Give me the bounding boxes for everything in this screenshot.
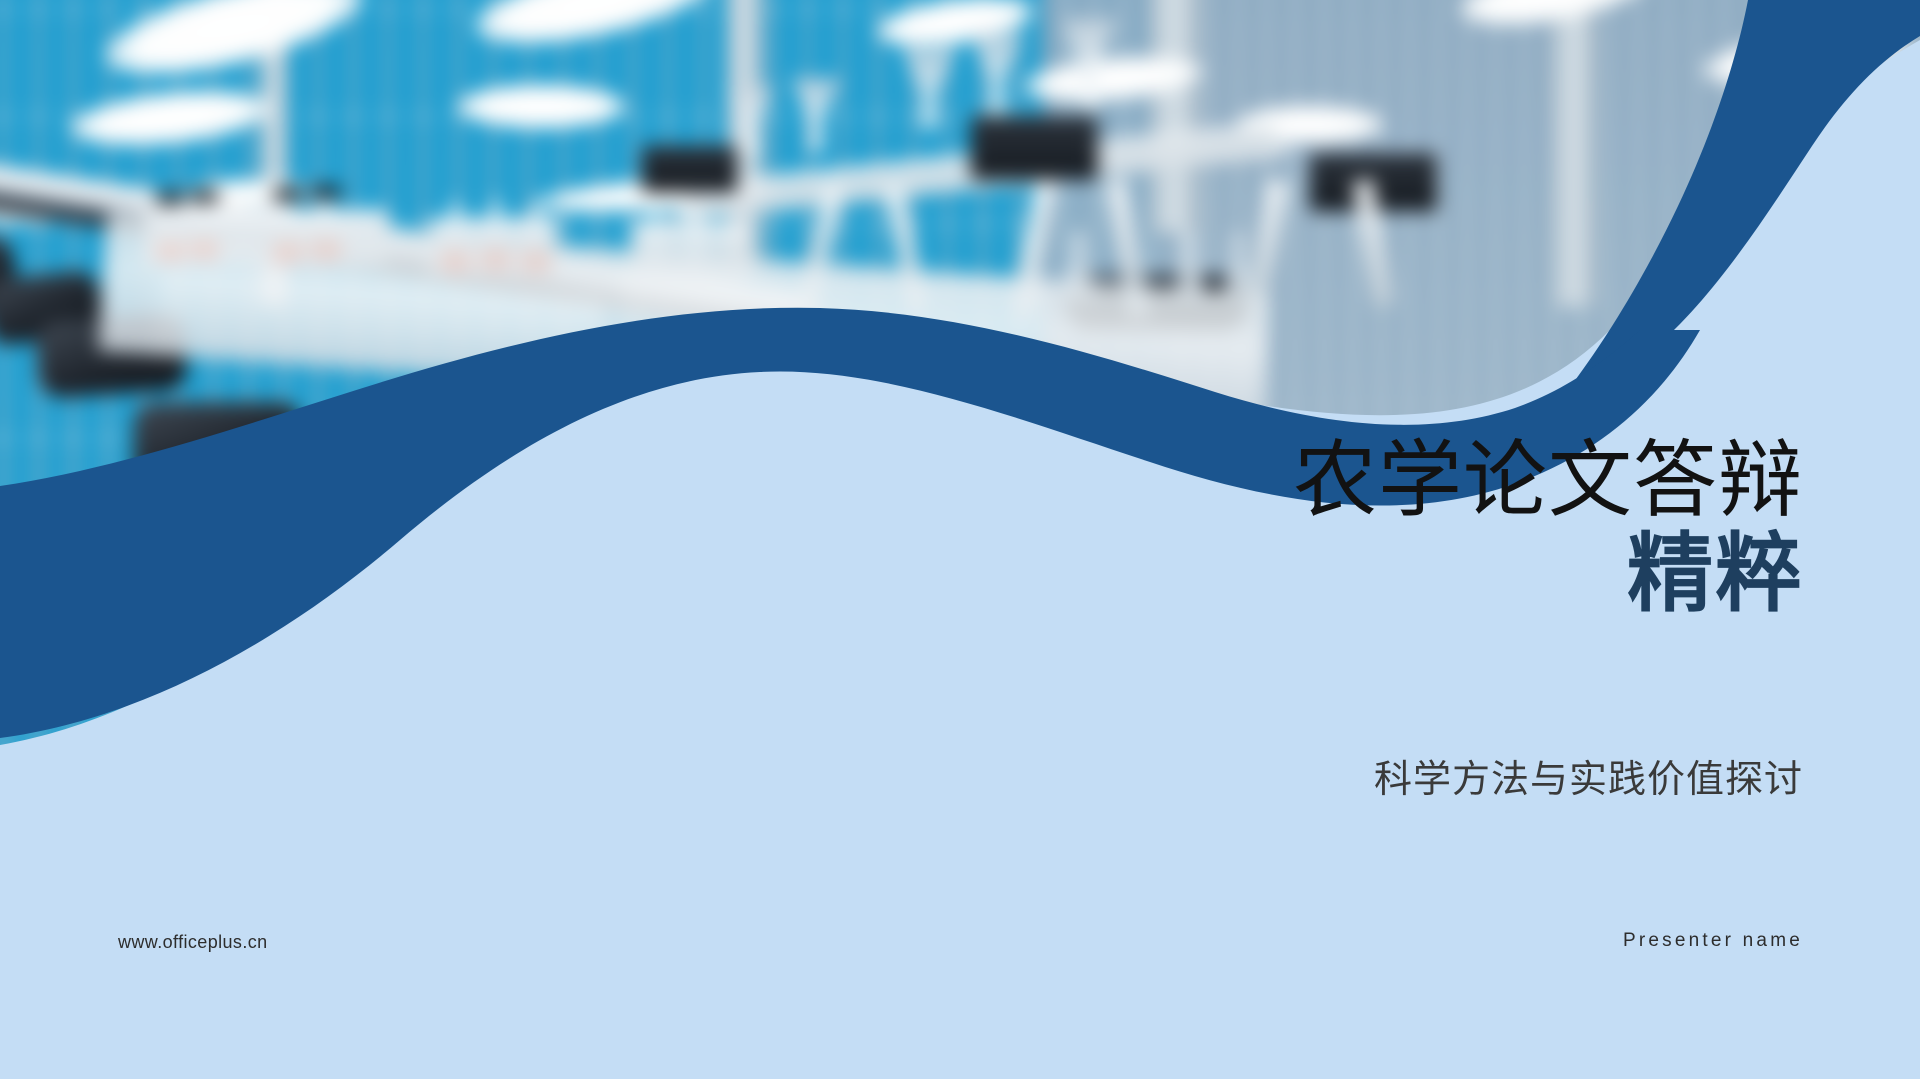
- footer-presenter-name: Presenter name: [1623, 930, 1803, 952]
- footer-url[interactable]: www.officeplus.cn: [118, 932, 268, 953]
- title-line-1: 农学论文答辩: [983, 438, 1803, 524]
- slide-title: 农学论文答辩 精粹: [983, 438, 1803, 621]
- slide-subtitle: 科学方法与实践价值探讨: [983, 758, 1803, 804]
- title-slide: 农学论文答辩 精粹 科学方法与实践价值探讨 www.officeplus.cn …: [0, 0, 1920, 1079]
- title-line-2: 精粹: [983, 528, 1803, 621]
